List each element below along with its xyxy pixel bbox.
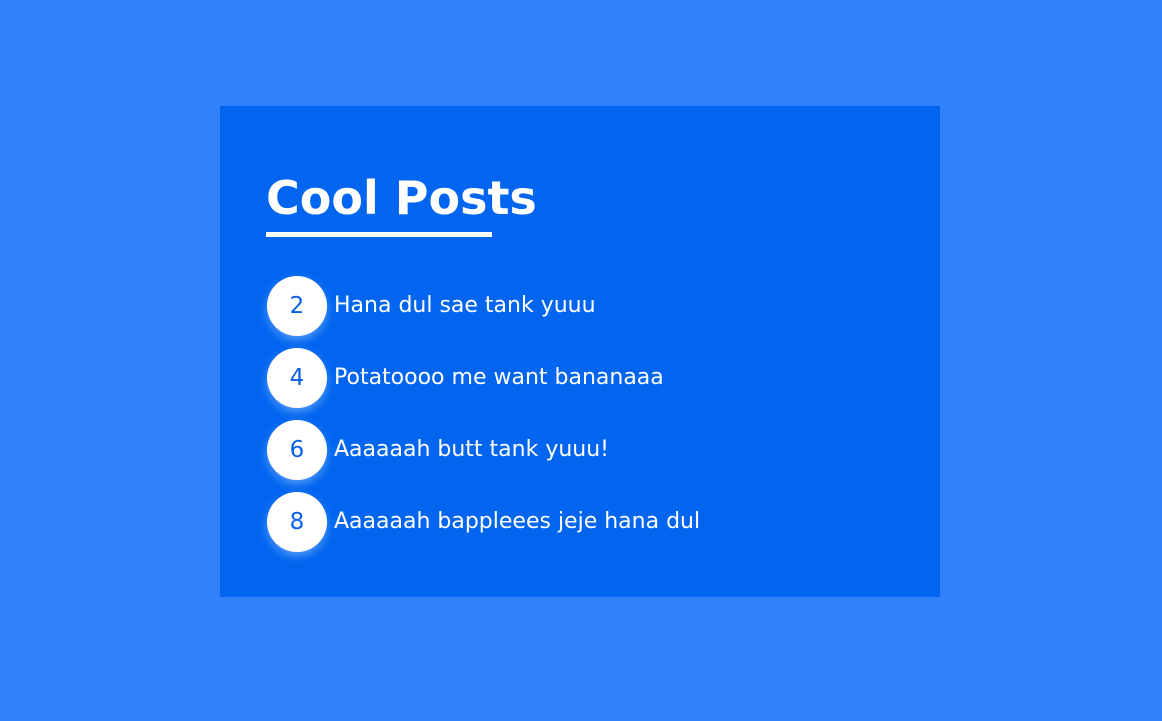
page-title: Cool Posts (266, 174, 537, 222)
title-underline (266, 232, 492, 237)
post-list: 2 Hana dul sae tank yuuu 4 Potatoooo me … (267, 270, 907, 558)
post-title[interactable]: Aaaaaah bappleees jeje hana dul (334, 508, 907, 536)
post-title[interactable]: Hana dul sae tank yuuu (334, 292, 907, 320)
post-number-badge: 6 (267, 420, 327, 480)
page-root: Cool Posts 2 Hana dul sae tank yuuu 4 Po… (0, 0, 1162, 721)
post-number-badge: 8 (267, 492, 327, 552)
list-item[interactable]: 2 Hana dul sae tank yuuu (267, 270, 907, 342)
card-header: Cool Posts (266, 174, 537, 237)
post-title[interactable]: Aaaaaah butt tank yuuu! (334, 436, 907, 464)
post-title[interactable]: Potatoooo me want bananaaa (334, 364, 907, 392)
post-number-badge: 2 (267, 276, 327, 336)
list-item[interactable]: 4 Potatoooo me want bananaaa (267, 342, 907, 414)
cool-posts-card: Cool Posts 2 Hana dul sae tank yuuu 4 Po… (220, 106, 940, 597)
post-number-badge: 4 (267, 348, 327, 408)
list-item[interactable]: 8 Aaaaaah bappleees jeje hana dul (267, 486, 907, 558)
list-item[interactable]: 6 Aaaaaah butt tank yuuu! (267, 414, 907, 486)
